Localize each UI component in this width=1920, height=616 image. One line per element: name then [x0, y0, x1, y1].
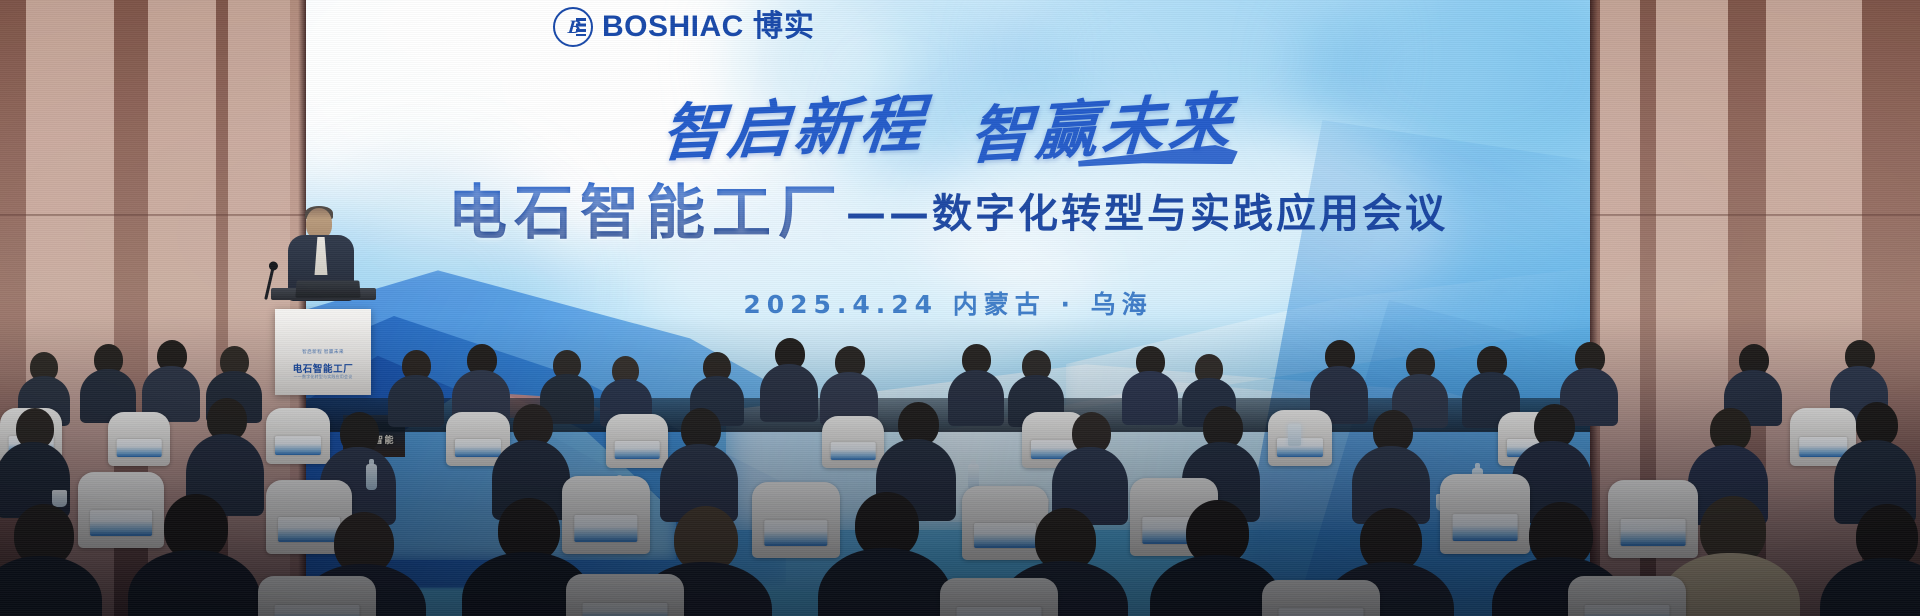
stage-front-edge — [306, 398, 1590, 432]
boshiac-roundel-icon: B — [553, 7, 593, 47]
logo-wordmark: BOSHIAC — [602, 12, 744, 42]
headline-sub: ——数字化转型与实践应用会议 — [846, 191, 1448, 237]
lectern: 智启新程 智赢未来 电石智能工厂 ——数字化转型与实践应用会议 — [271, 288, 376, 395]
hall-wall-left — [0, 0, 306, 616]
podium-laptop — [295, 281, 360, 298]
lectern-sign-tagline: 智启新程 智赢未来 — [285, 349, 361, 355]
conference-headline: 电石智能工厂——数字化转型与实践应用会议 — [306, 165, 1590, 250]
logo-wordmark-cn: 博实 — [753, 12, 815, 42]
lectern-front-panel: 智启新程 智赢未来 电石智能工厂 ——数字化转型与实践应用会议 — [275, 309, 371, 395]
hall-wall-right — [1590, 0, 1920, 616]
dateline-text: 2025.4.24 内蒙古 · 乌海 — [743, 290, 1152, 319]
lectern-sign-title: 电石智能工厂 — [281, 361, 365, 375]
headline-main: 电石智能工厂 — [448, 178, 844, 247]
lectern-sign-subtitle: ——数字化转型与实践应用会议 — [281, 374, 365, 380]
tent-card-text: 博实智能 — [343, 433, 405, 446]
conference-dateline: 2025.4.24 内蒙古 · 乌海 — [306, 285, 1590, 321]
logo-bars-icon — [576, 18, 586, 36]
stage-led-screen: B BOSHIAC 博实 智启新程 智赢未来 电石智能工厂——数字化转型与实践应… — [306, 0, 1590, 616]
boshiac-logo: B BOSHIAC 博实 — [553, 7, 815, 47]
conference-photo-scene: B BOSHIAC 博实 智启新程 智赢未来 电石智能工厂——数字化转型与实践应… — [0, 0, 1920, 616]
